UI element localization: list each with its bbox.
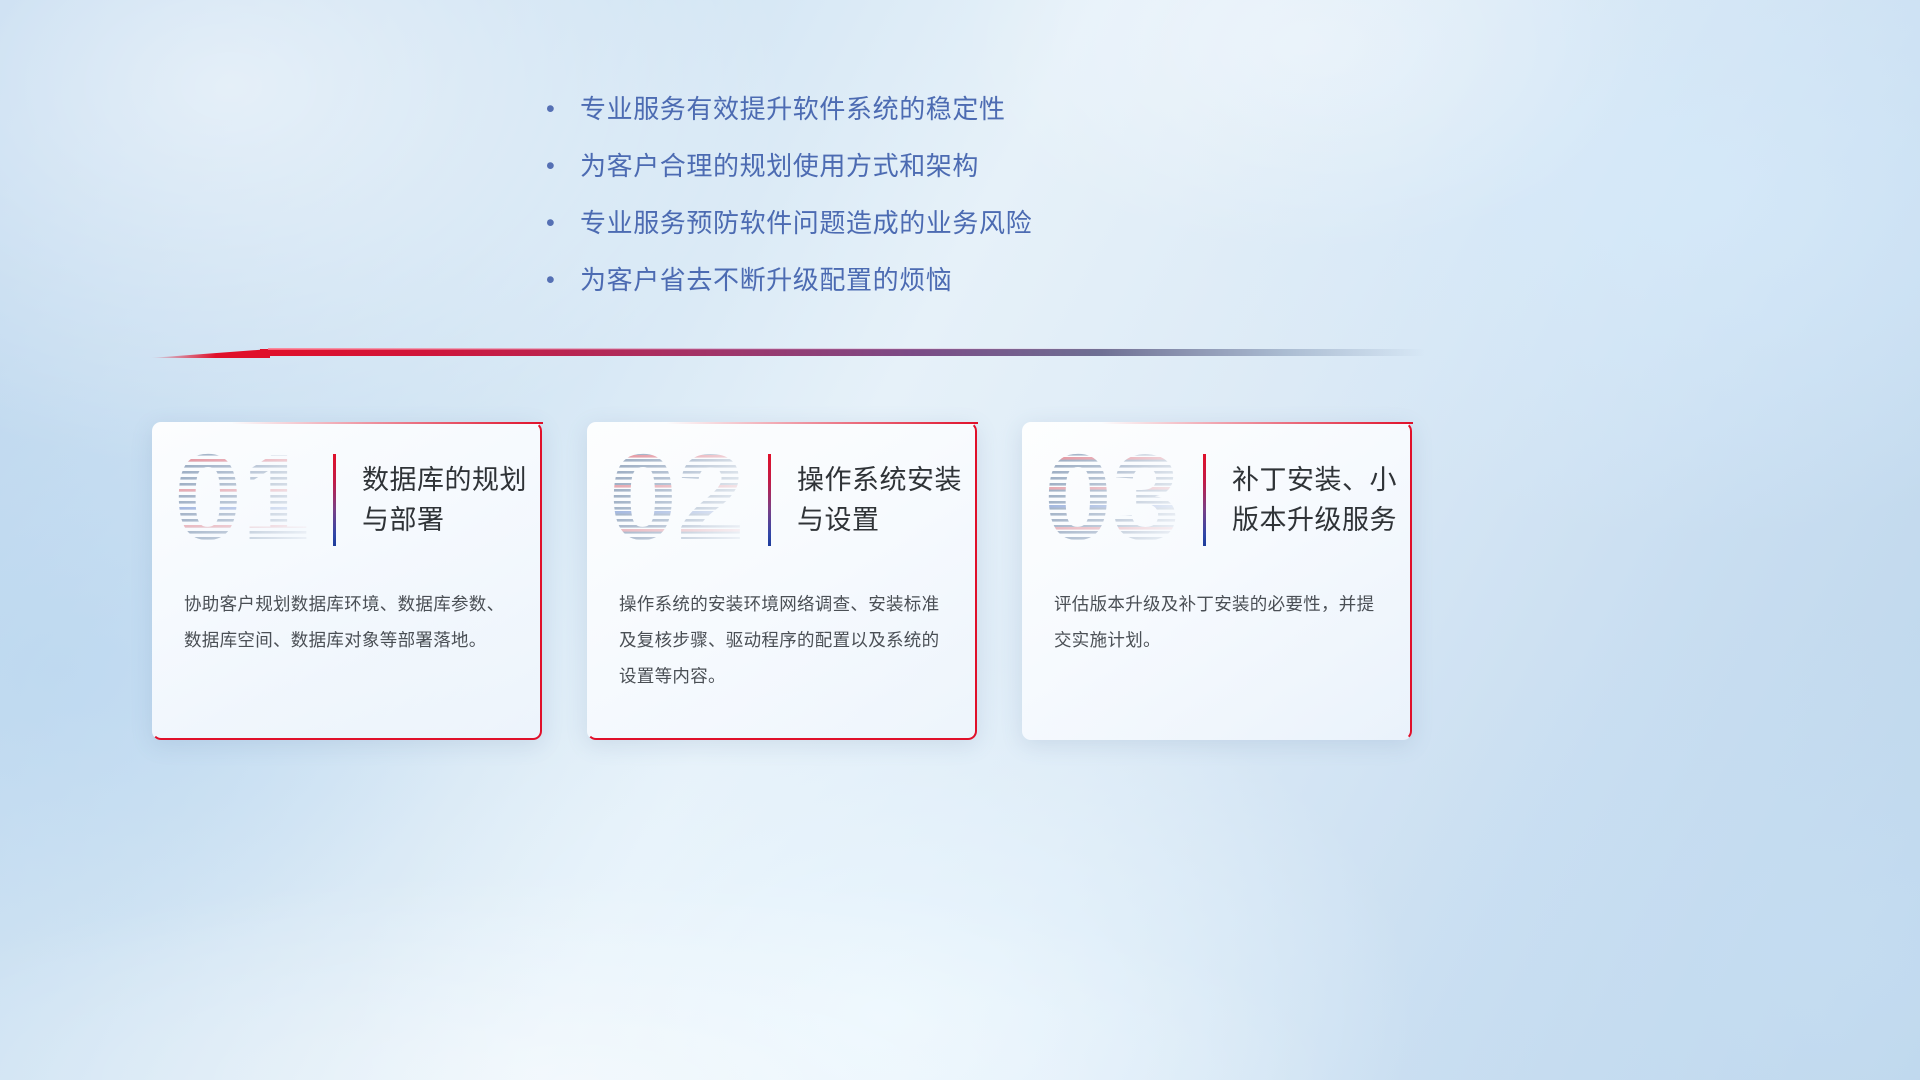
service-card-list: 01	[152, 422, 1772, 742]
card-body-text: 评估版本升级及补丁安装的必要性，并提交实施计划。	[1054, 587, 1380, 659]
card-title: 数据库的规划 与部署	[362, 460, 527, 540]
card-title: 操作系统安装 与设置	[797, 460, 962, 540]
bullet-text: 专业服务预防软件问题造成的业务风险	[580, 206, 1032, 240]
card-title-divider	[333, 454, 336, 546]
bullet-text: 为客户省去不断升级配置的烦恼	[580, 263, 952, 297]
card-title-line2: 与设置	[797, 500, 962, 540]
service-card[interactable]: 02	[587, 422, 977, 740]
card-title-line1: 补丁安装、小	[1232, 460, 1397, 500]
bullet-point-icon: •	[540, 206, 580, 240]
card-number-watermark: 03	[1044, 441, 1199, 559]
divider-taper	[150, 349, 270, 358]
card-header: 03	[1022, 422, 1412, 577]
card-title-line2: 版本升级服务	[1232, 500, 1397, 540]
card-number-watermark: 02	[609, 441, 764, 559]
card-title-line1: 数据库的规划	[362, 460, 527, 500]
list-item: • 为客户省去不断升级配置的烦恼	[540, 263, 1240, 297]
bullet-point-icon: •	[540, 92, 580, 126]
bullet-text: 专业服务有效提升软件系统的稳定性	[580, 92, 1006, 126]
card-title: 补丁安装、小 版本升级服务	[1232, 460, 1397, 540]
card-header: 02	[587, 422, 977, 577]
bullet-text: 为客户合理的规划使用方式和架构	[580, 149, 979, 183]
list-item: • 为客户合理的规划使用方式和架构	[540, 149, 1240, 183]
list-item: • 专业服务预防软件问题造成的业务风险	[540, 206, 1240, 240]
slide-stage: • 专业服务有效提升软件系统的稳定性 • 为客户合理的规划使用方式和架构 • 专…	[0, 0, 1920, 1080]
card-title-divider	[1203, 454, 1206, 546]
service-card[interactable]: 03	[1022, 422, 1412, 740]
benefits-bullet-list: • 专业服务有效提升软件系统的稳定性 • 为客户合理的规划使用方式和架构 • 专…	[540, 92, 1240, 320]
divider-highlight	[268, 348, 1165, 350]
card-title-line2: 与部署	[362, 500, 527, 540]
card-number-watermark: 01	[174, 441, 329, 559]
bullet-point-icon: •	[540, 263, 580, 297]
section-divider-line	[150, 345, 1425, 359]
card-title-divider	[768, 454, 771, 546]
card-header: 01	[152, 422, 542, 577]
service-card[interactable]: 01	[152, 422, 542, 740]
list-item: • 专业服务有效提升软件系统的稳定性	[540, 92, 1240, 126]
card-title-line1: 操作系统安装	[797, 460, 962, 500]
bullet-point-icon: •	[540, 149, 580, 183]
card-body-text: 操作系统的安装环境网络调查、安装标准及复核步骤、驱动程序的配置以及系统的设置等内…	[619, 587, 945, 695]
divider-bar	[260, 349, 1425, 356]
card-body-text: 协助客户规划数据库环境、数据库参数、数据库空间、数据库对象等部署落地。	[184, 587, 510, 659]
